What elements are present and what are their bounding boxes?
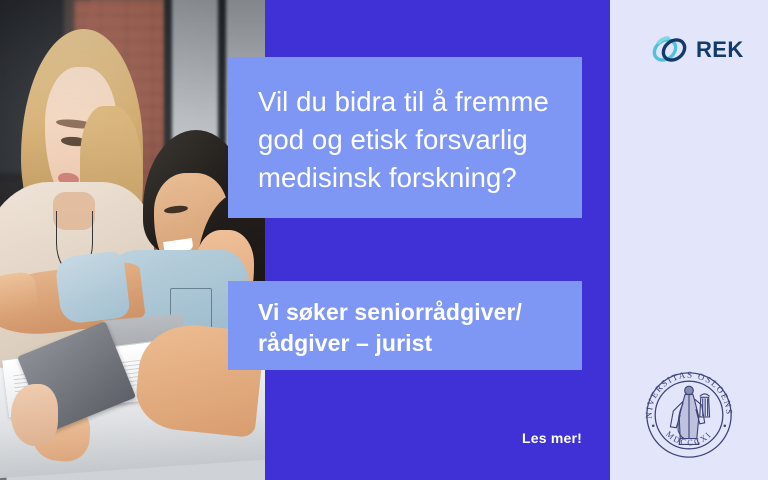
job-title-line-2: rådgiver – jurist (258, 328, 562, 359)
photo-students-and-advisor (0, 0, 265, 480)
uio-seal: UNIVERSITAS OSLOENSIS MDCCCXI (640, 366, 738, 464)
headline-line-2: god og etisk forsvarlig (258, 121, 558, 159)
photo-man-sleeve (54, 250, 131, 325)
headline-box: Vil du bidra til å fremme god og etisk f… (228, 57, 582, 218)
rek-logo[interactable]: REK (648, 26, 740, 74)
job-title-line-1: Vi søker seniorrådgiver/ (258, 297, 562, 328)
headline-line-3: medisinsk forskning? (258, 159, 558, 197)
headline-line-1: Vil du bidra til å fremme (258, 83, 558, 121)
rek-interlocking-rings-icon (648, 28, 692, 72)
job-title-box: Vi søker seniorrådgiver/ rådgiver – juri… (228, 281, 582, 370)
read-more-link[interactable]: Les mer! (468, 430, 582, 446)
job-ad-banner: Vil du bidra til å fremme god og etisk f… (0, 0, 768, 480)
photo-woman-hand (11, 384, 59, 446)
rek-wordmark: REK (696, 39, 744, 61)
